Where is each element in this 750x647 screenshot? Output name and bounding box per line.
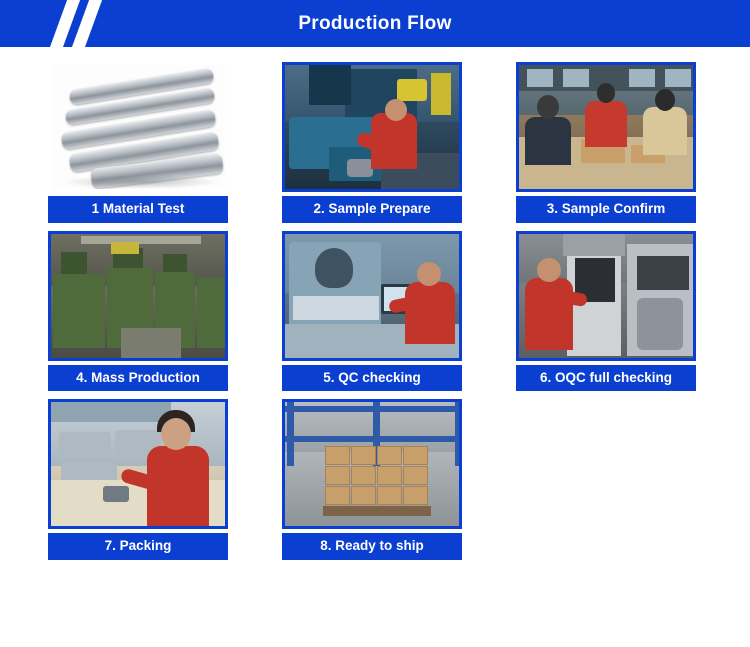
step-label-1: 1 Material Test bbox=[48, 196, 228, 223]
packing-photo bbox=[48, 399, 228, 529]
step-label-3: 3. Sample Confirm bbox=[516, 196, 696, 223]
step-card-8: 8. Ready to ship bbox=[282, 399, 468, 560]
step-card-2: 2. Sample Prepare bbox=[282, 62, 468, 223]
oqc-full-checking-photo bbox=[516, 231, 696, 361]
sample-confirm-photo bbox=[516, 62, 696, 192]
page-header-banner: Production Flow bbox=[0, 0, 750, 47]
steps-row-3: 7. Packing bbox=[0, 399, 750, 560]
step-card-4: 4. Mass Production bbox=[48, 231, 234, 392]
step-label-4: 4. Mass Production bbox=[48, 365, 228, 392]
step-card-3: 3. Sample Confirm bbox=[516, 62, 702, 223]
step-card-6: 6. OQC full checking bbox=[516, 231, 702, 392]
page-title: Production Flow bbox=[0, 0, 750, 47]
mass-production-photo bbox=[48, 231, 228, 361]
step-card-5: 5. QC checking bbox=[282, 231, 468, 392]
step-label-8: 8. Ready to ship bbox=[282, 533, 462, 560]
page-footer-space bbox=[0, 619, 750, 647]
step-label-2: 2. Sample Prepare bbox=[282, 196, 462, 223]
steps-row-1: 1 Material Test 2. Sample Prepare bbox=[0, 62, 750, 223]
steps-row-2: 4. Mass Production 5. QC checking bbox=[0, 231, 750, 392]
production-flow-page: Production Flow 1 Material Test bbox=[0, 0, 750, 647]
steps-grid: 1 Material Test 2. Sample Prepare bbox=[0, 47, 750, 568]
step-label-7: 7. Packing bbox=[48, 533, 228, 560]
sample-prepare-photo bbox=[282, 62, 462, 192]
ready-to-ship-photo bbox=[282, 399, 462, 529]
step-card-7: 7. Packing bbox=[48, 399, 234, 560]
carton-stack bbox=[325, 446, 429, 506]
steel-bars-photo bbox=[48, 62, 228, 192]
step-card-1: 1 Material Test bbox=[48, 62, 234, 223]
qc-checking-photo bbox=[282, 231, 462, 361]
step-label-6: 6. OQC full checking bbox=[516, 365, 696, 392]
step-label-5: 5. QC checking bbox=[282, 365, 462, 392]
